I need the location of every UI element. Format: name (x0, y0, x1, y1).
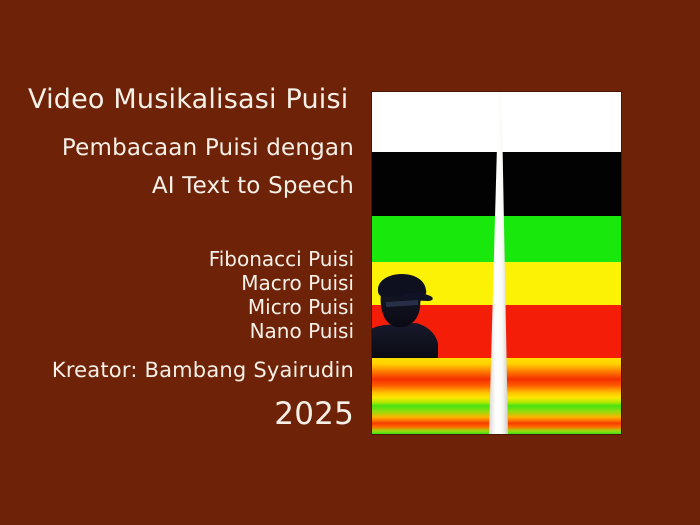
green-band (372, 216, 621, 262)
list-item: Fibonacci Puisi (209, 247, 354, 271)
list-item: Micro Puisi (209, 295, 354, 319)
man-with-cap-silhouette (372, 274, 442, 358)
creator-credit: Kreator: Bambang Syairudin (52, 357, 354, 383)
poem-type-list: Fibonacci Puisi Macro Puisi Micro Puisi … (209, 247, 354, 343)
white-band (372, 92, 621, 152)
cap-brim-shape (402, 293, 433, 301)
gradient-stripes-zone (372, 358, 621, 434)
page-title: Video Musikalisasi Puisi (28, 84, 348, 116)
black-band (372, 152, 621, 216)
text-column: Video Musikalisasi Puisi Pembacaan Puisi… (0, 0, 372, 525)
list-item: Macro Puisi (209, 271, 354, 295)
subtitle-line-1: Pembacaan Puisi dengan (62, 134, 354, 162)
year-label: 2025 (274, 395, 354, 433)
slide-canvas: Video Musikalisasi Puisi Pembacaan Puisi… (0, 0, 700, 525)
list-item: Nano Puisi (209, 319, 354, 343)
album-cover-image (372, 92, 621, 434)
torso-shape (372, 323, 438, 358)
subtitle-line-2: AI Text to Speech (152, 172, 354, 200)
